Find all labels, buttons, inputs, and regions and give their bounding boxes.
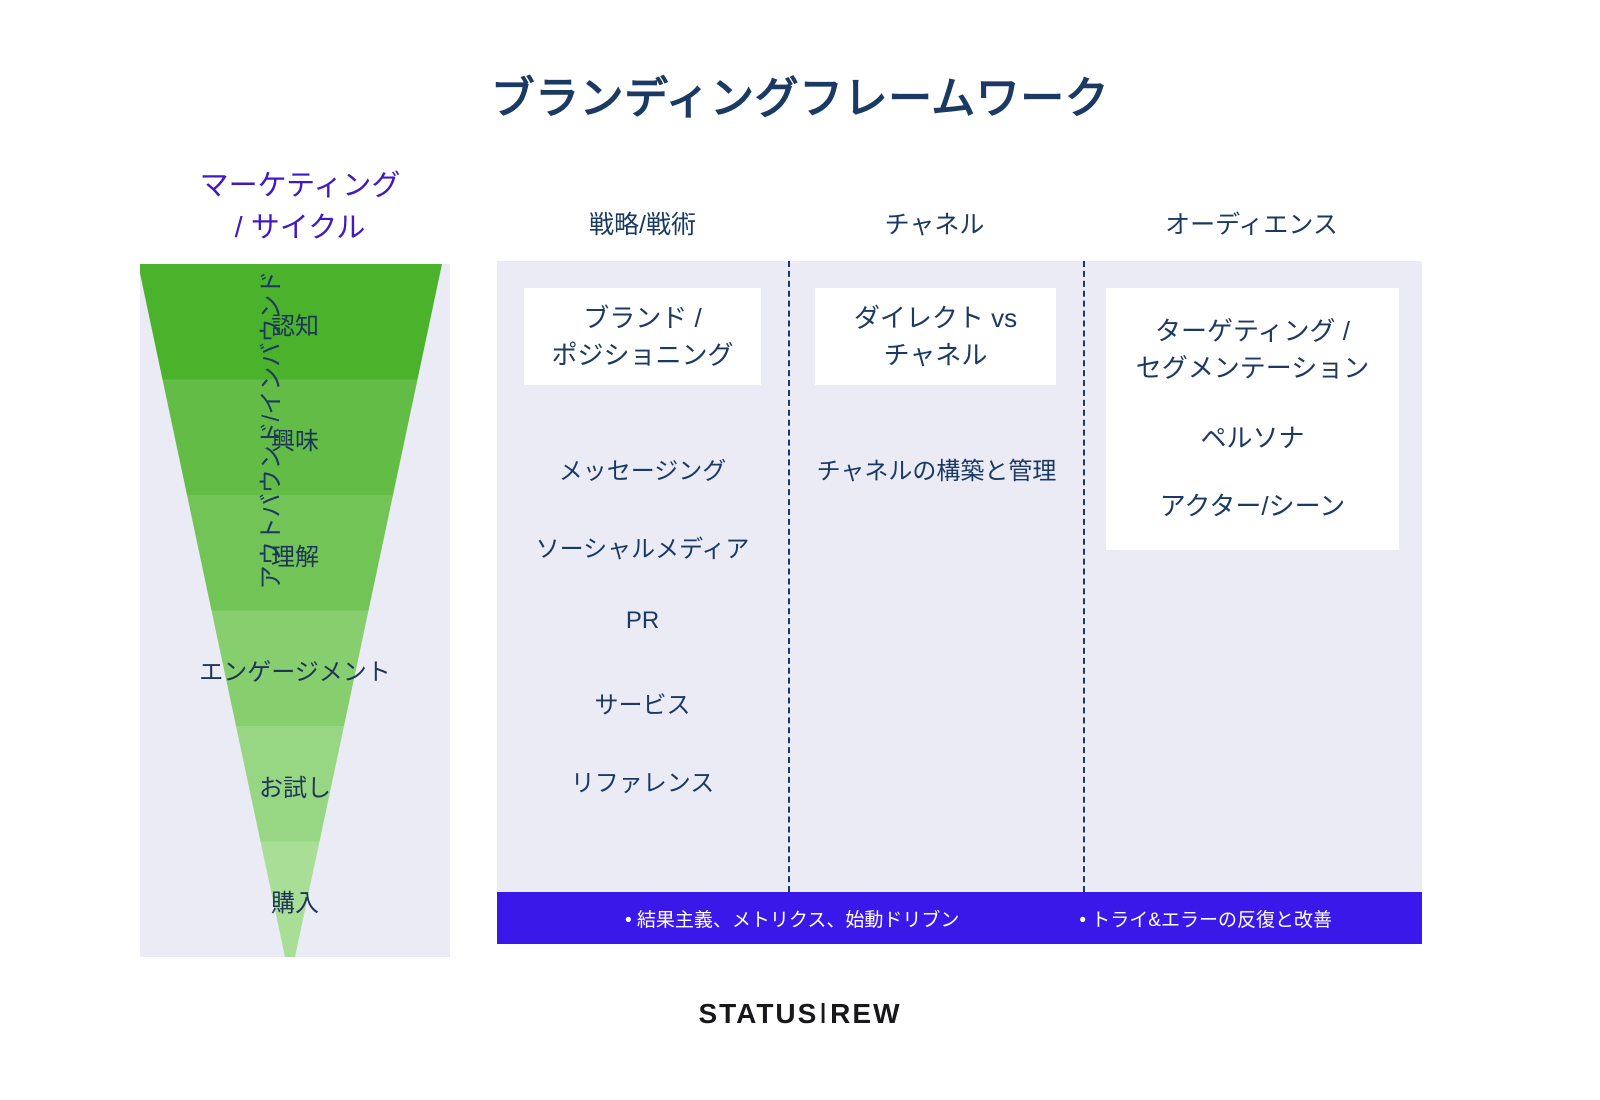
funnel-stage-label: 購入	[140, 883, 450, 918]
column-header-strategy: 戦略/戦術	[497, 205, 788, 245]
card-targeting-segmentation[interactable]: ターゲティング / セグメンテーション ペルソナ アクター/シーン	[1106, 288, 1399, 550]
card-line: ペルソナ	[1200, 420, 1304, 456]
funnel-stage-label: エンゲージメント	[140, 652, 450, 687]
funnel-stage-label: お試し	[140, 768, 450, 803]
list-item[interactable]: メッセージング	[497, 451, 788, 486]
card-line: ターゲティング /	[1155, 313, 1350, 349]
card-line: ダイレクト vs	[854, 300, 1017, 336]
list-item[interactable]: サービス	[497, 685, 788, 720]
list-item[interactable]: チャネルの構築と管理	[790, 451, 1083, 486]
logo-text-right: REW	[830, 998, 901, 1029]
card-direct-vs-channel[interactable]: ダイレクト vs チャネル	[815, 288, 1056, 385]
logo-text-left: STATUS	[698, 998, 818, 1029]
funnel-heading-line1: マーケティング	[140, 165, 460, 207]
list-item[interactable]: リファレンス	[497, 763, 788, 798]
card-line: アクター/シーン	[1160, 488, 1346, 524]
principle-item: • トライ&エラーの反復と改善	[1079, 905, 1332, 932]
list-item[interactable]: ソーシャルメディア	[497, 529, 788, 564]
page-title: ブランディングフレームワーク	[0, 62, 1600, 126]
funnel-stage-label: 認知	[140, 306, 450, 341]
column-headers: 戦略/戦術 チャネル オーディエンス	[497, 205, 1422, 245]
column-header-channel: チャネル	[788, 205, 1081, 245]
card-line: ポジショニング	[551, 337, 733, 373]
card-line: チャネル	[884, 337, 988, 373]
funnel-heading-line2: / サイクル	[140, 207, 460, 249]
list-item[interactable]: PR	[497, 607, 788, 635]
funnel-stage-labels: 認知興味理解エンゲージメントお試し購入	[140, 264, 450, 957]
card-line: セグメンテーション	[1136, 350, 1369, 386]
marketing-funnel: マーケティング / サイクル 認知興味理解エンゲージメントお試し購入	[140, 165, 460, 965]
column-audience: ターゲティング / セグメンテーション ペルソナ アクター/シーン	[1085, 261, 1422, 892]
column-header-audience: オーディエンス	[1081, 205, 1422, 245]
principles-bar: • 結果主義、メトリクス、始動ドリブン • トライ&エラーの反復と改善	[497, 892, 1422, 944]
statusbrew-logo: STATUSǀREW	[0, 998, 1600, 1030]
logo-mark-icon: ǀ	[819, 998, 829, 1030]
column-channel: ダイレクト vs チャネル チャネルの構築と管理	[790, 261, 1083, 892]
funnel-stage-label: 理解	[140, 537, 450, 572]
funnel-heading: マーケティング / サイクル	[140, 165, 460, 249]
principle-item: • 結果主義、メトリクス、始動ドリブン	[625, 905, 959, 932]
column-strategy: ブランド / ポジショニング メッセージング ソーシャルメディア PR サービス…	[497, 261, 788, 892]
funnel-stage-label: 興味	[140, 421, 450, 456]
outbound-inbound-axis-label: アウトバウンド/インバウンド	[251, 220, 286, 640]
card-line: ブランド /	[583, 300, 701, 336]
card-brand-positioning[interactable]: ブランド / ポジショニング	[524, 288, 761, 385]
